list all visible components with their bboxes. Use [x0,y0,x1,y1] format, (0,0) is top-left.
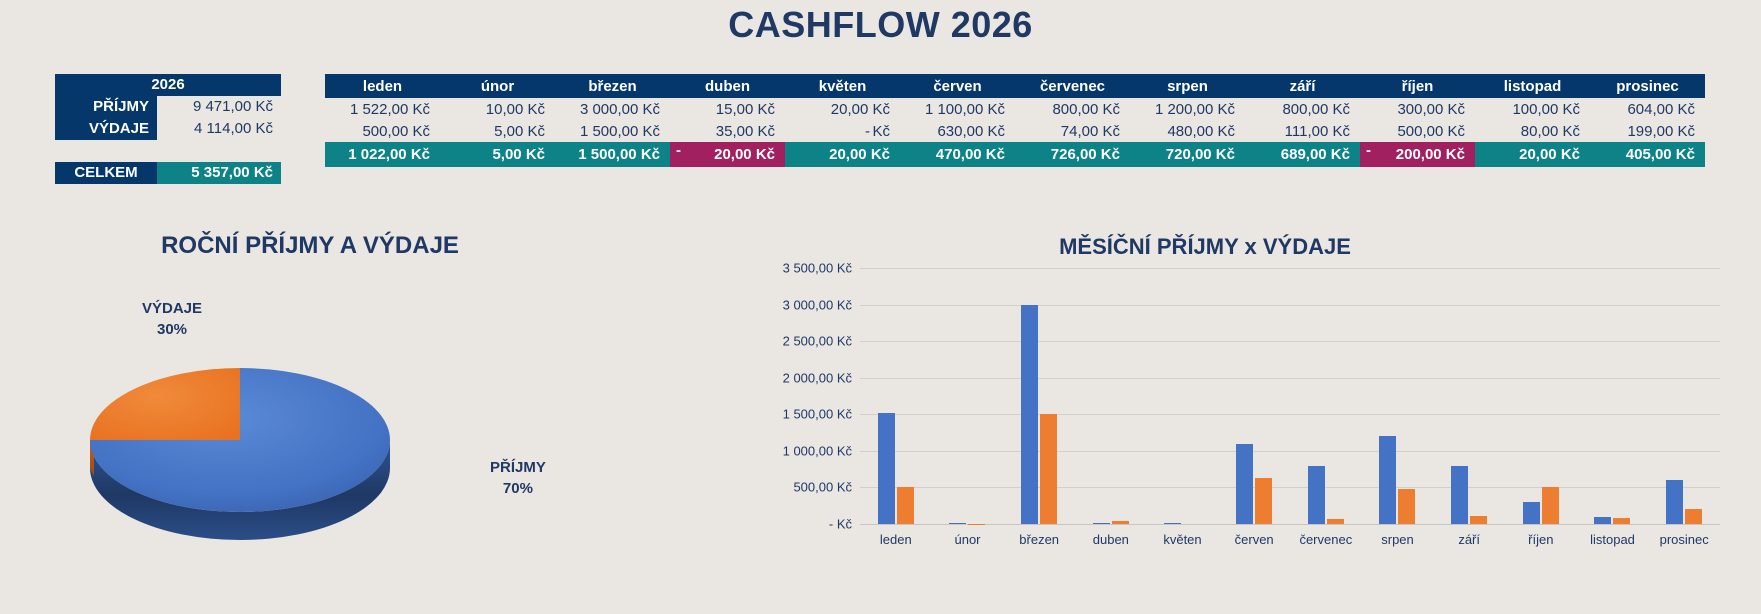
bar-leden-příjmy [878,413,895,524]
bar-group-září [1433,268,1505,524]
x-tick-label-červenec: červenec [1299,532,1352,547]
zero-dash: - [865,123,870,140]
y-tick-label-0: 3 500,00 Kč [783,261,852,276]
bar-group-prosinec [1648,268,1720,524]
income-cell-3: 15,00 Kč [670,98,785,120]
month-header-4: květen [785,74,900,98]
total-cell-8: 689,00 Kč [1245,142,1360,167]
total-cell-6: 726,00 Kč [1015,142,1130,167]
page-title: CASHFLOW 2026 [0,4,1761,46]
total-cell-2: 1 500,00 Kč [555,142,670,167]
income-cell-10: 100,00 Kč [1475,98,1590,120]
month-header-11: prosinec [1590,74,1705,98]
income-cell-5: 1 100,00 Kč [900,98,1015,120]
bar-září-příjmy [1451,466,1468,525]
expense-cell-1: 5,00 Kč [440,120,555,142]
summary-row-income: PŘÍJMY 9 471,00 Kč [55,96,281,118]
bar-červenec-výdaje [1327,519,1344,524]
x-tick-label-říjen: říjen [1528,532,1553,547]
month-header-2: březen [555,74,670,98]
y-tick-label-6: 500,00 Kč [793,480,852,495]
expense-cell-10: 80,00 Kč [1475,120,1590,142]
bar-listopad-příjmy [1594,517,1611,524]
negative-sign: - [1366,142,1371,159]
income-cell-1: 10,00 Kč [440,98,555,120]
summary-row-total: CELKEM 5 357,00 Kč [55,162,281,184]
total-cell-7: 720,00 Kč [1130,142,1245,167]
bar-prosinec-výdaje [1685,509,1702,524]
income-cell-0: 1 522,00 Kč [325,98,440,120]
expense-cell-4: Kč- [785,120,900,142]
month-header-5: červen [900,74,1015,98]
y-tick-label-1: 3 000,00 Kč [783,297,852,312]
bar-chart-baseline [860,524,1720,525]
x-tick-label-srpen: srpen [1381,532,1414,547]
pie-label-expense-name: VÝDAJE [142,300,202,317]
total-cell-4: 20,00 Kč [785,142,900,167]
bar-group-srpen [1362,268,1434,524]
x-tick-label-únor: únor [954,532,980,547]
y-tick-label-7: - Kč [829,517,852,532]
bar-červen-příjmy [1236,444,1253,524]
x-tick-label-březen: březen [1019,532,1059,547]
bar-prosinec-příjmy [1666,480,1683,524]
summary-value-expense: 4 114,00 Kč [157,118,281,140]
bar-group-říjen [1505,268,1577,524]
bar-duben-výdaje [1112,521,1129,524]
month-header-1: únor [440,74,555,98]
income-cell-8: 800,00 Kč [1245,98,1360,120]
bar-group-květen [1147,268,1219,524]
summary-label-expense: VÝDAJE [55,118,157,140]
months-income-row: 1 522,00 Kč10,00 Kč3 000,00 Kč15,00 Kč20… [325,98,1705,120]
pie-slice-expense [90,368,240,440]
x-tick-label-září: září [1458,532,1480,547]
pie-label-income-name: PŘÍJMY [490,459,546,476]
annual-summary-table: 2026 PŘÍJMY 9 471,00 Kč VÝDAJE 4 114,00 … [55,74,281,184]
bar-group-duben [1075,268,1147,524]
months-header-row: ledenúnorbřezendubenkvětenčervenčervenec… [325,74,1705,98]
y-tick-label-5: 1 000,00 Kč [783,443,852,458]
summary-year-row: 2026 [55,74,281,96]
bar-duben-příjmy [1093,523,1110,524]
x-tick-label-květen: květen [1163,532,1201,547]
pie-label-income: PŘÍJMY 70% [490,457,546,499]
expense-cell-11: 199,00 Kč [1590,120,1705,142]
y-tick-label-4: 1 500,00 Kč [783,407,852,422]
bar-group-leden [860,268,932,524]
bar-chart-title: MĚSÍČNÍ PŘÍJMY x VÝDAJE [740,234,1670,260]
bar-březen-výdaje [1040,414,1057,524]
bar-chart-y-axis: 3 500,00 Kč3 000,00 Kč2 500,00 Kč2 000,0… [760,268,852,524]
months-expense-row: 500,00 Kč5,00 Kč1 500,00 Kč35,00 KčKč-63… [325,120,1705,142]
summary-label-total: CELKEM [55,162,157,184]
income-cell-9: 300,00 Kč [1360,98,1475,120]
month-header-10: listopad [1475,74,1590,98]
expense-cell-0: 500,00 Kč [325,120,440,142]
expense-cell-5: 630,00 Kč [900,120,1015,142]
bar-leden-výdaje [897,487,914,524]
total-cell-5: 470,00 Kč [900,142,1015,167]
month-header-7: srpen [1130,74,1245,98]
income-cell-7: 1 200,00 Kč [1130,98,1245,120]
pie-label-income-percent: 70% [503,480,533,497]
pie-chart-svg [60,265,580,565]
total-cell-1: 5,00 Kč [440,142,555,167]
bar-srpen-příjmy [1379,436,1396,524]
expense-cell-8: 111,00 Kč [1245,120,1360,142]
pie-chart-title: ROČNÍ PŘÍJMY A VÝDAJE [60,232,560,260]
total-cell-3: -20,00 Kč [670,142,785,167]
total-cell-0: 1 022,00 Kč [325,142,440,167]
summary-row-expense: VÝDAJE 4 114,00 Kč [55,118,281,140]
x-tick-label-leden: leden [880,532,912,547]
bar-group-únor [932,268,1004,524]
months-total-row: 1 022,00 Kč5,00 Kč1 500,00 Kč-20,00 Kč20… [325,142,1705,167]
bar-září-výdaje [1470,516,1487,524]
bar-únor-příjmy [949,523,966,524]
month-header-9: říjen [1360,74,1475,98]
summary-value-total: 5 357,00 Kč [157,162,281,184]
summary-label-income: PŘÍJMY [55,96,157,118]
bar-říjen-příjmy [1523,502,1540,524]
bar-červenec-příjmy [1308,466,1325,525]
bar-group-červen [1218,268,1290,524]
x-tick-label-duben: duben [1093,532,1129,547]
month-header-8: září [1245,74,1360,98]
total-cell-9: -200,00 Kč [1360,142,1475,167]
total-cell-11: 405,00 Kč [1590,142,1705,167]
bar-listopad-výdaje [1613,518,1630,524]
month-header-3: duben [670,74,785,98]
y-tick-label-2: 2 500,00 Kč [783,334,852,349]
income-cell-6: 800,00 Kč [1015,98,1130,120]
income-cell-11: 604,00 Kč [1590,98,1705,120]
bar-chart-plot-area: ledenúnorbřezendubenkvětenčervenčervenec… [860,268,1720,524]
expense-cell-6: 74,00 Kč [1015,120,1130,142]
bar-group-listopad [1577,268,1649,524]
month-header-0: leden [325,74,440,98]
negative-sign: - [676,142,681,159]
pie-chart: VÝDAJE 30% PŘÍJMY 70% [60,265,580,565]
x-tick-label-prosinec: prosinec [1660,532,1709,547]
bar-chart: 3 500,00 Kč3 000,00 Kč2 500,00 Kč2 000,0… [760,268,1730,568]
income-cell-4: 20,00 Kč [785,98,900,120]
expense-cell-9: 500,00 Kč [1360,120,1475,142]
expense-cell-2: 1 500,00 Kč [555,120,670,142]
monthly-cashflow-table: ledenúnorbřezendubenkvětenčervenčervenec… [325,74,1705,167]
summary-value-income: 9 471,00 Kč [157,96,281,118]
x-tick-label-červen: červen [1235,532,1274,547]
bar-srpen-výdaje [1398,489,1415,524]
total-cell-10: 20,00 Kč [1475,142,1590,167]
summary-separator [55,140,281,162]
bar-květen-příjmy [1164,523,1181,524]
y-tick-label-3: 2 000,00 Kč [783,370,852,385]
bar-group-červenec [1290,268,1362,524]
bar-červen-výdaje [1255,478,1272,524]
income-cell-2: 3 000,00 Kč [555,98,670,120]
pie-label-expense-percent: 30% [157,321,187,338]
bar-březen-příjmy [1021,305,1038,524]
expense-cell-3: 35,00 Kč [670,120,785,142]
expense-cell-7: 480,00 Kč [1130,120,1245,142]
bar-group-březen [1003,268,1075,524]
summary-year-cell: 2026 [55,74,281,96]
x-tick-label-listopad: listopad [1590,532,1635,547]
pie-label-expense: VÝDAJE 30% [142,298,202,340]
bar-říjen-výdaje [1542,487,1559,524]
month-header-6: červenec [1015,74,1130,98]
